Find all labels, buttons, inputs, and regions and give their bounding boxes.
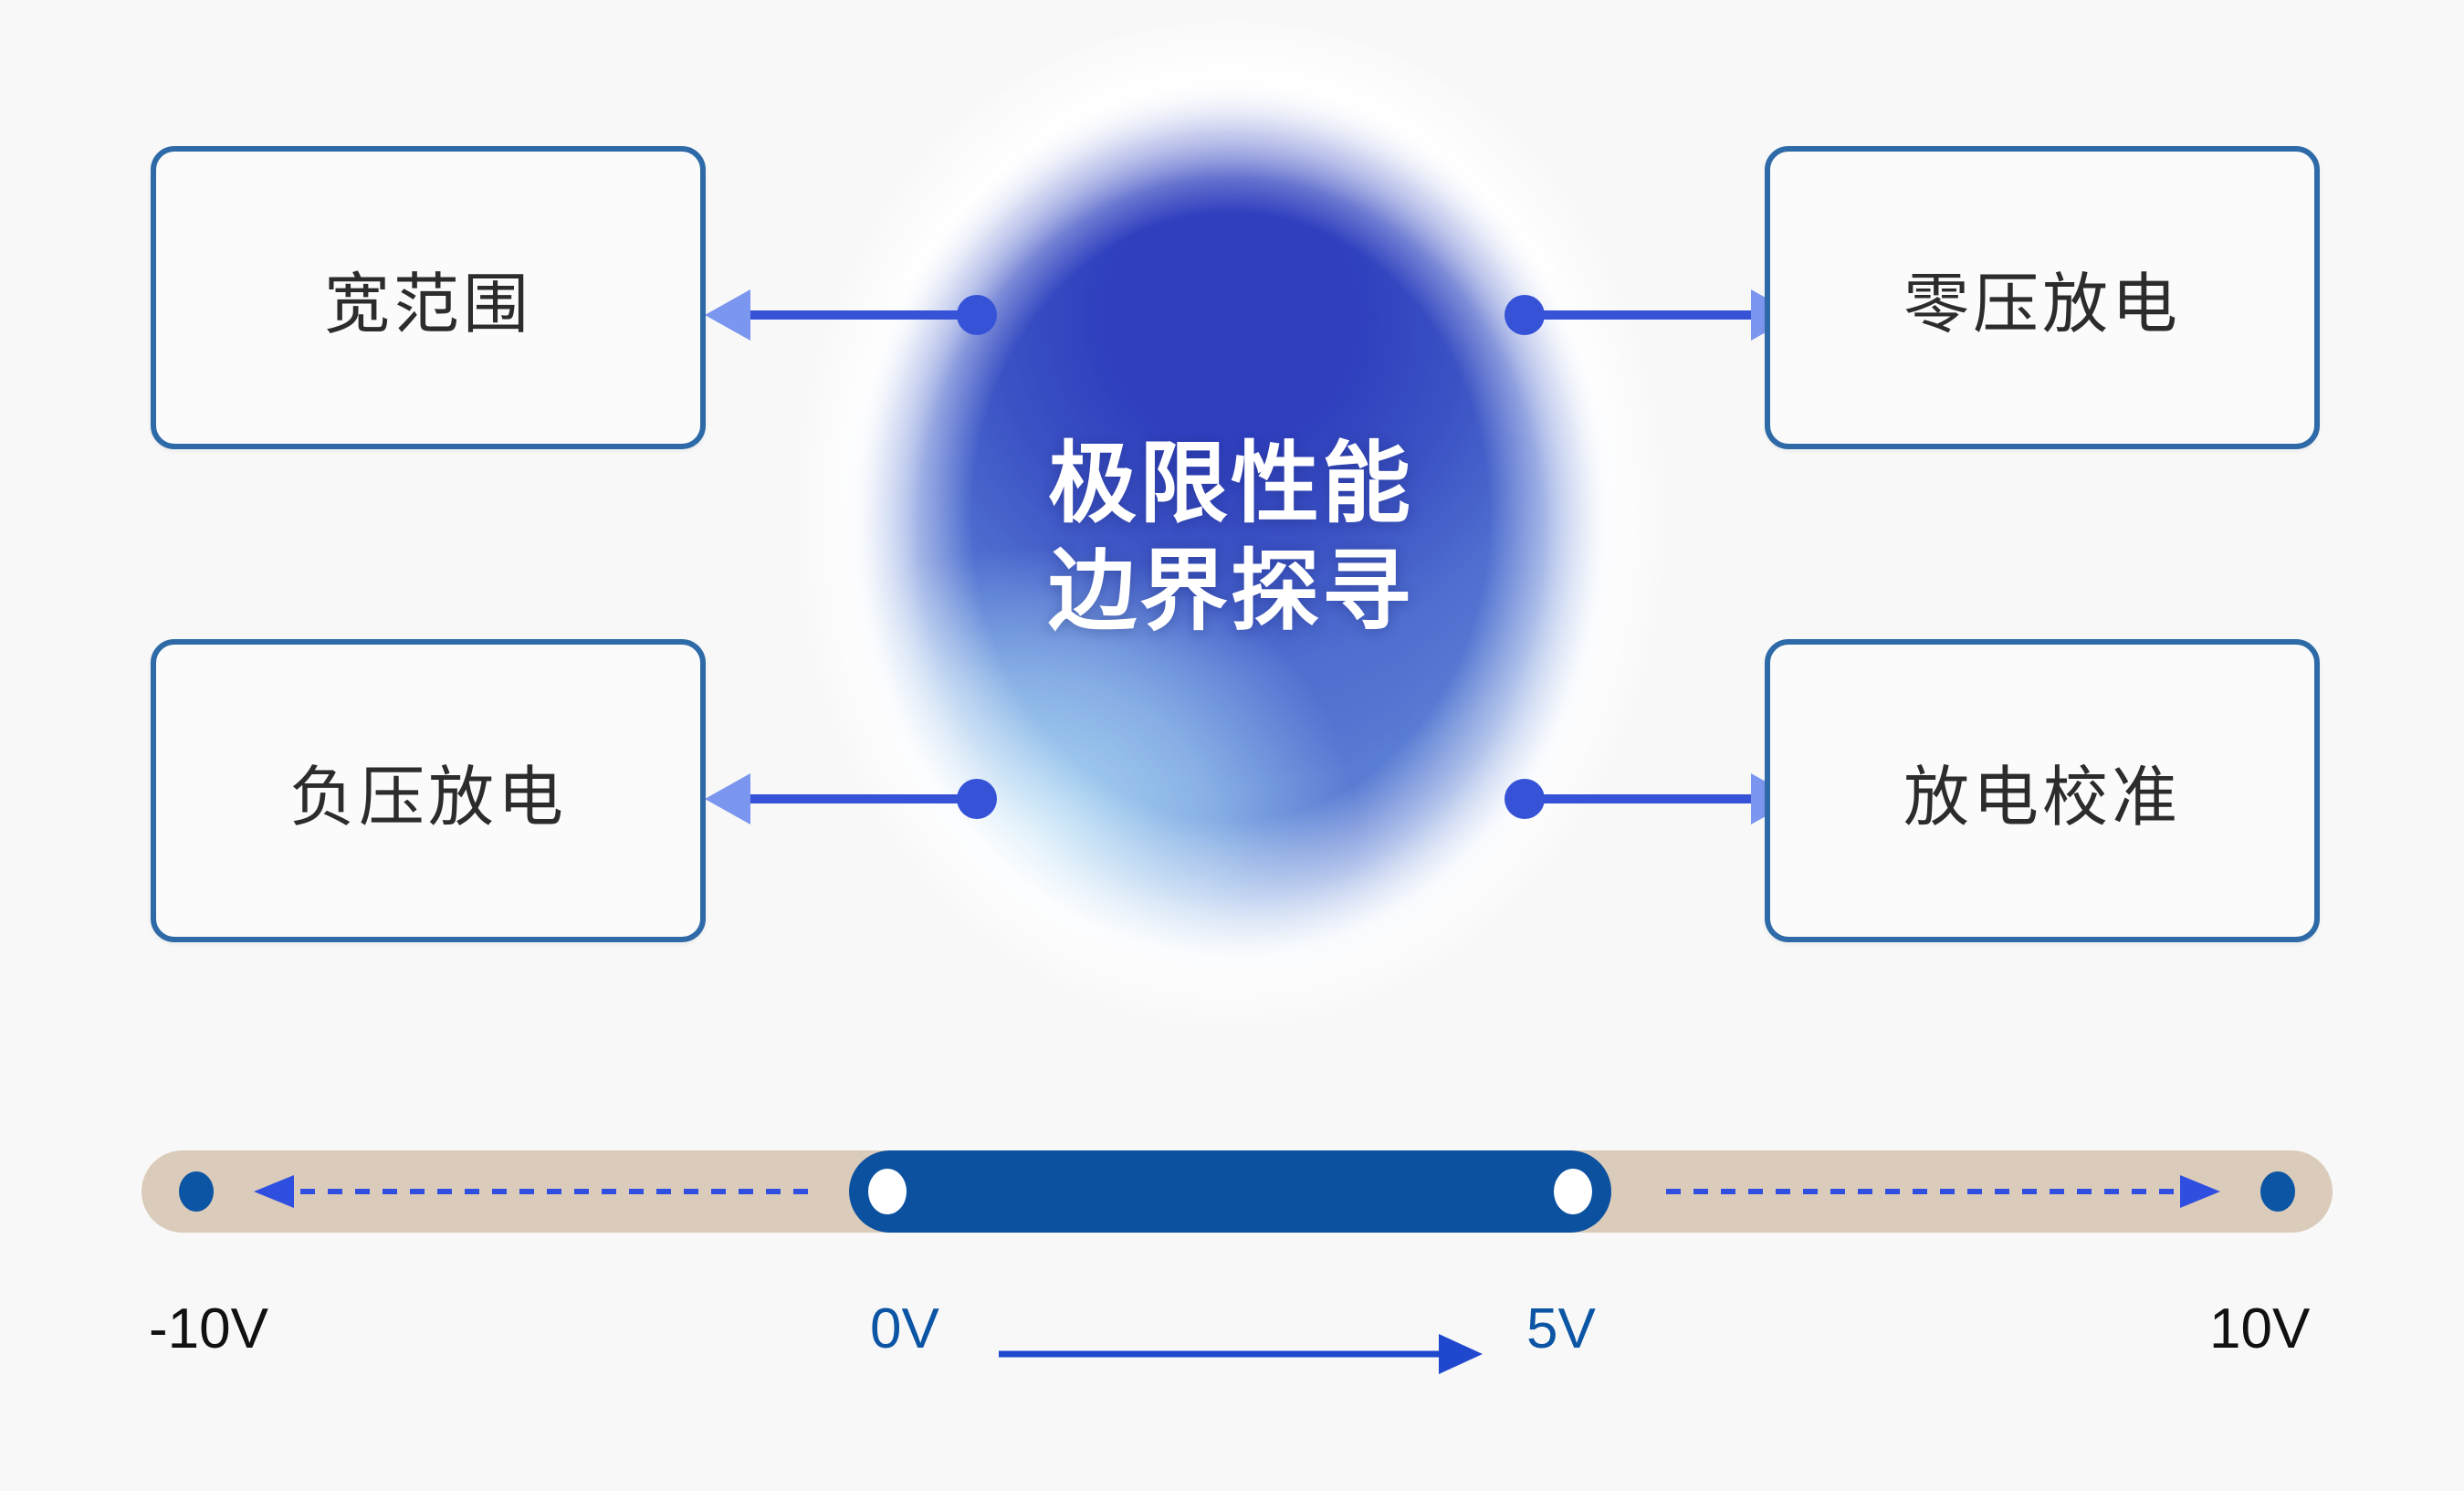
slider-track[interactable] [142,1150,2333,1233]
arrowhead-right [1439,1334,1483,1374]
slider-right-dashed-arrow-icon [1662,1169,2228,1214]
center-sphere: 极限性能 边界探寻 [829,77,1632,999]
slider-label-max: 10V [2209,1297,2310,1361]
connector-arrow-output-calibration [1497,758,1808,840]
center-title-line-1: 极限性能 [1048,430,1413,538]
feature-box-negative-output[interactable]: 负压放电 [151,639,706,942]
range-direction-arrow-icon [995,1328,1488,1380]
arrowhead-left [254,1175,294,1208]
slider-handle-start[interactable] [868,1169,907,1214]
feature-box-zero-volt-output[interactable]: 零压放电 [1765,146,2320,449]
connector-arrow-negative-output [694,758,1004,840]
slider-left-dashed-arrow-icon [246,1169,813,1214]
feature-label-wide-range: 宽范围 [324,250,532,346]
slider-label-range-start: 0V [870,1297,939,1361]
feature-box-output-calibration[interactable]: 放电校准 [1765,639,2320,942]
arrowhead-right [2180,1175,2220,1208]
connector-arrow-wide-range [694,274,1004,356]
slider-label-min: -10V [149,1297,268,1361]
infographic-canvas: 极限性能 边界探寻 宽范围 零压放电 负压放电 放电校准 [0,0,2464,1491]
voltage-range-slider[interactable]: -10V 0V 5V 10V [0,1137,2464,1447]
slider-max-endpoint-dot [2260,1171,2295,1212]
connector-arrow-zero-volt-output [1497,274,1808,356]
slider-label-range-end: 5V [1526,1297,1596,1361]
feature-label-zero-volt-output: 零压放电 [1903,250,2181,346]
feature-box-wide-range[interactable]: 宽范围 [151,146,706,449]
feature-label-negative-output: 负压放电 [289,743,567,839]
feature-label-output-calibration: 放电校准 [1903,743,2181,839]
slider-selected-range[interactable] [849,1150,1611,1233]
center-title: 极限性能 边界探寻 [829,77,1632,999]
slider-min-endpoint-dot [179,1171,214,1212]
connector-arrowhead-left [705,773,750,824]
center-title-line-2: 边界探寻 [1048,538,1413,646]
slider-handle-end[interactable] [1554,1169,1592,1214]
connector-arrowhead-left [705,289,750,341]
